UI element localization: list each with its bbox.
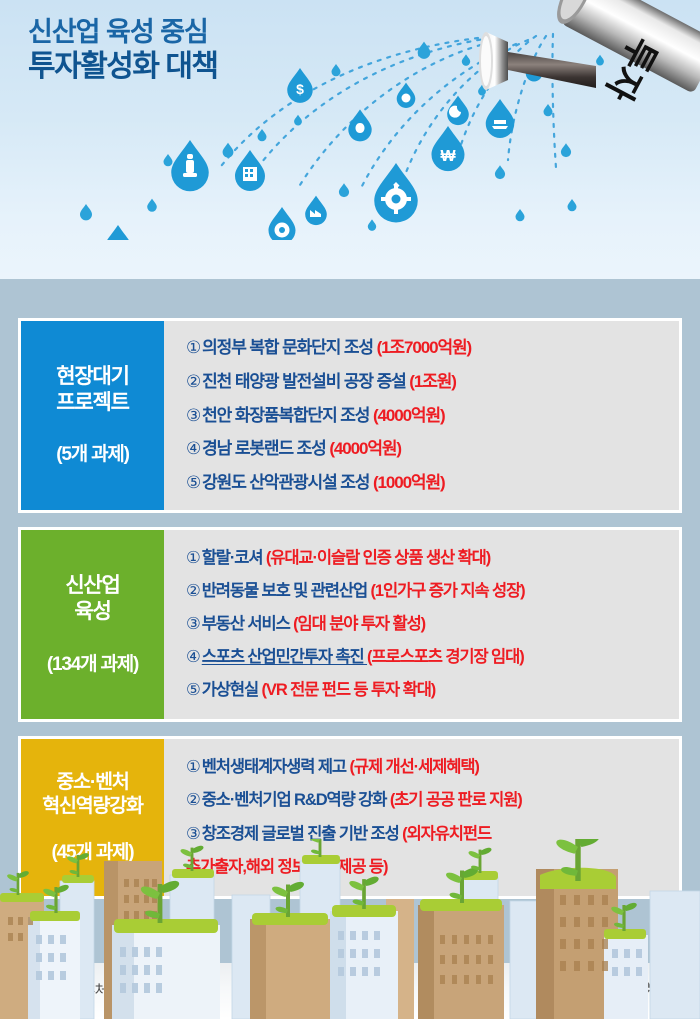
- list-item: ①할랄·코셔 (유대교·이슬람 인증 상품 생산 확대): [186, 542, 673, 575]
- list-item: ⑤가상현실 (VR 전문 펀드 등 투자 확대): [186, 674, 673, 707]
- category-task-count: (5개 과제): [56, 439, 129, 466]
- item-highlight: (VR 전문 펀드 등 투자 확대): [262, 681, 436, 699]
- list-item: ③천안 화장품복합단지 조성 (4000억원): [186, 399, 673, 433]
- item-number: ②: [186, 582, 200, 600]
- category-block[interactable]: 현장대기 프로젝트 (5개 과제): [21, 321, 164, 510]
- item-text: 의정부 복합 문화단지 조성: [202, 338, 376, 357]
- item-text: 부동산 서비스: [202, 615, 293, 633]
- list-item: ②반려동물 보호 및 관련산업 (1인가구 증가 지속 성장): [186, 575, 673, 608]
- item-highlight: (유대교·이슬람 인증 상품 생산 확대): [266, 549, 490, 567]
- item-text: 벤처생태계자생력 제고: [202, 758, 350, 776]
- item-highlight: (프로스포츠 경기장 임대): [367, 648, 524, 666]
- category-name: 현장대기 프로젝트: [56, 364, 128, 415]
- item-number: ③: [186, 406, 200, 425]
- item-text: 가상현실: [202, 681, 262, 699]
- title-line-2: 투자활성화 대책: [28, 49, 218, 86]
- category-task-count: (134개 과제): [47, 649, 138, 676]
- svg-text:$: $: [296, 81, 304, 97]
- list-item: ④스포츠 산업민간투자 촉진 (프로스포츠 경기장 임대): [186, 641, 673, 674]
- item-text: 중소·벤처기업 R&D역량 강화: [202, 791, 390, 809]
- item-list: ①할랄·코셔 (유대교·이슬람 인증 상품 생산 확대) ②반려동물 보호 및 …: [164, 530, 679, 720]
- item-text: 진천 태양광 발전설비 공장 증설: [202, 372, 409, 391]
- page-title: 신산업 육성 중심 투자활성화 대책: [28, 16, 218, 86]
- item-number: ⑤: [186, 473, 200, 492]
- watering-can-icon: 투자: [446, 0, 700, 120]
- item-number: ③: [186, 615, 200, 633]
- item-text: 스포츠 산업민간투자 촉진: [202, 648, 367, 666]
- infographic-page: 신산업 육성 중심 투자활성화 대책: [0, 0, 700, 1019]
- list-item: ②중소·벤처기업 R&D역량 강화 (초기 공공 판로 지원): [186, 784, 673, 817]
- item-highlight: (규제 개선·세제혜택): [349, 758, 478, 776]
- section-onsite-waiting-project: 현장대기 프로젝트 (5개 과제) ①의정부 복합 문화단지 조성 (1조700…: [18, 318, 682, 513]
- item-highlight: (초기 공공 판로 지원): [390, 791, 522, 809]
- item-text: 할랄·코셔: [202, 549, 266, 567]
- item-number: ①: [186, 758, 200, 776]
- item-highlight: (1조7000억원): [377, 338, 472, 357]
- item-highlight: (1조원): [409, 372, 456, 391]
- item-number: ①: [186, 338, 200, 357]
- city-skyline-illustration: [0, 839, 700, 1019]
- list-item: ①의정부 복합 문화단지 조성 (1조7000억원): [186, 331, 673, 365]
- item-number: ②: [186, 791, 200, 809]
- svg-text:₩: ₩: [440, 148, 456, 165]
- item-text: 반려동물 보호 및 관련산업: [202, 582, 371, 600]
- header-sky-banner: 신산업 육성 중심 투자활성화 대책: [0, 0, 700, 312]
- item-highlight: (1인가구 증가 지속 성장): [371, 582, 525, 600]
- section-new-industry-fostering: 신산업 육성 (134개 과제) ①할랄·코셔 (유대교·이슬람 인증 상품 생…: [18, 527, 682, 723]
- item-highlight: (임대 분야 투자 활성): [293, 615, 425, 633]
- item-text: 강원도 산악관광시설 조성: [202, 473, 373, 492]
- ground-band: [0, 279, 700, 312]
- item-list: ①의정부 복합 문화단지 조성 (1조7000억원) ②진천 태양광 발전설비 …: [164, 321, 679, 510]
- list-item: ⑤강원도 산악관광시설 조성 (1000억원): [186, 466, 673, 500]
- title-line-1: 신산업 육성 중심: [28, 16, 218, 49]
- item-highlight: (4000억원): [329, 439, 401, 458]
- list-item: ③부동산 서비스 (임대 분야 투자 활성): [186, 608, 673, 641]
- item-highlight: (1000억원): [373, 473, 445, 492]
- item-number: ②: [186, 372, 200, 391]
- item-number: ⑤: [186, 681, 200, 699]
- list-item: ①벤처생태계자생력 제고 (규제 개선·세제혜택): [186, 751, 673, 784]
- item-highlight: (4000억원): [373, 406, 445, 425]
- list-item: ④경남 로봇랜드 조성 (4000억원): [186, 432, 673, 466]
- category-block[interactable]: 신산업 육성 (134개 과제): [21, 530, 164, 720]
- category-name: 중소·벤처 혁신역량강화: [42, 771, 142, 819]
- category-name: 신산업 육성: [65, 573, 119, 624]
- policy-sections: 현장대기 프로젝트 (5개 과제) ①의정부 복합 문화단지 조성 (1조700…: [0, 318, 700, 913]
- item-number: ①: [186, 549, 200, 567]
- item-text: 천안 화장품복합단지 조성: [202, 406, 373, 425]
- list-item: ②진천 태양광 발전설비 공장 증설 (1조원): [186, 365, 673, 399]
- item-number: ④: [186, 439, 200, 458]
- item-text: 경남 로봇랜드 조성: [202, 439, 329, 458]
- item-number: ④: [186, 648, 200, 666]
